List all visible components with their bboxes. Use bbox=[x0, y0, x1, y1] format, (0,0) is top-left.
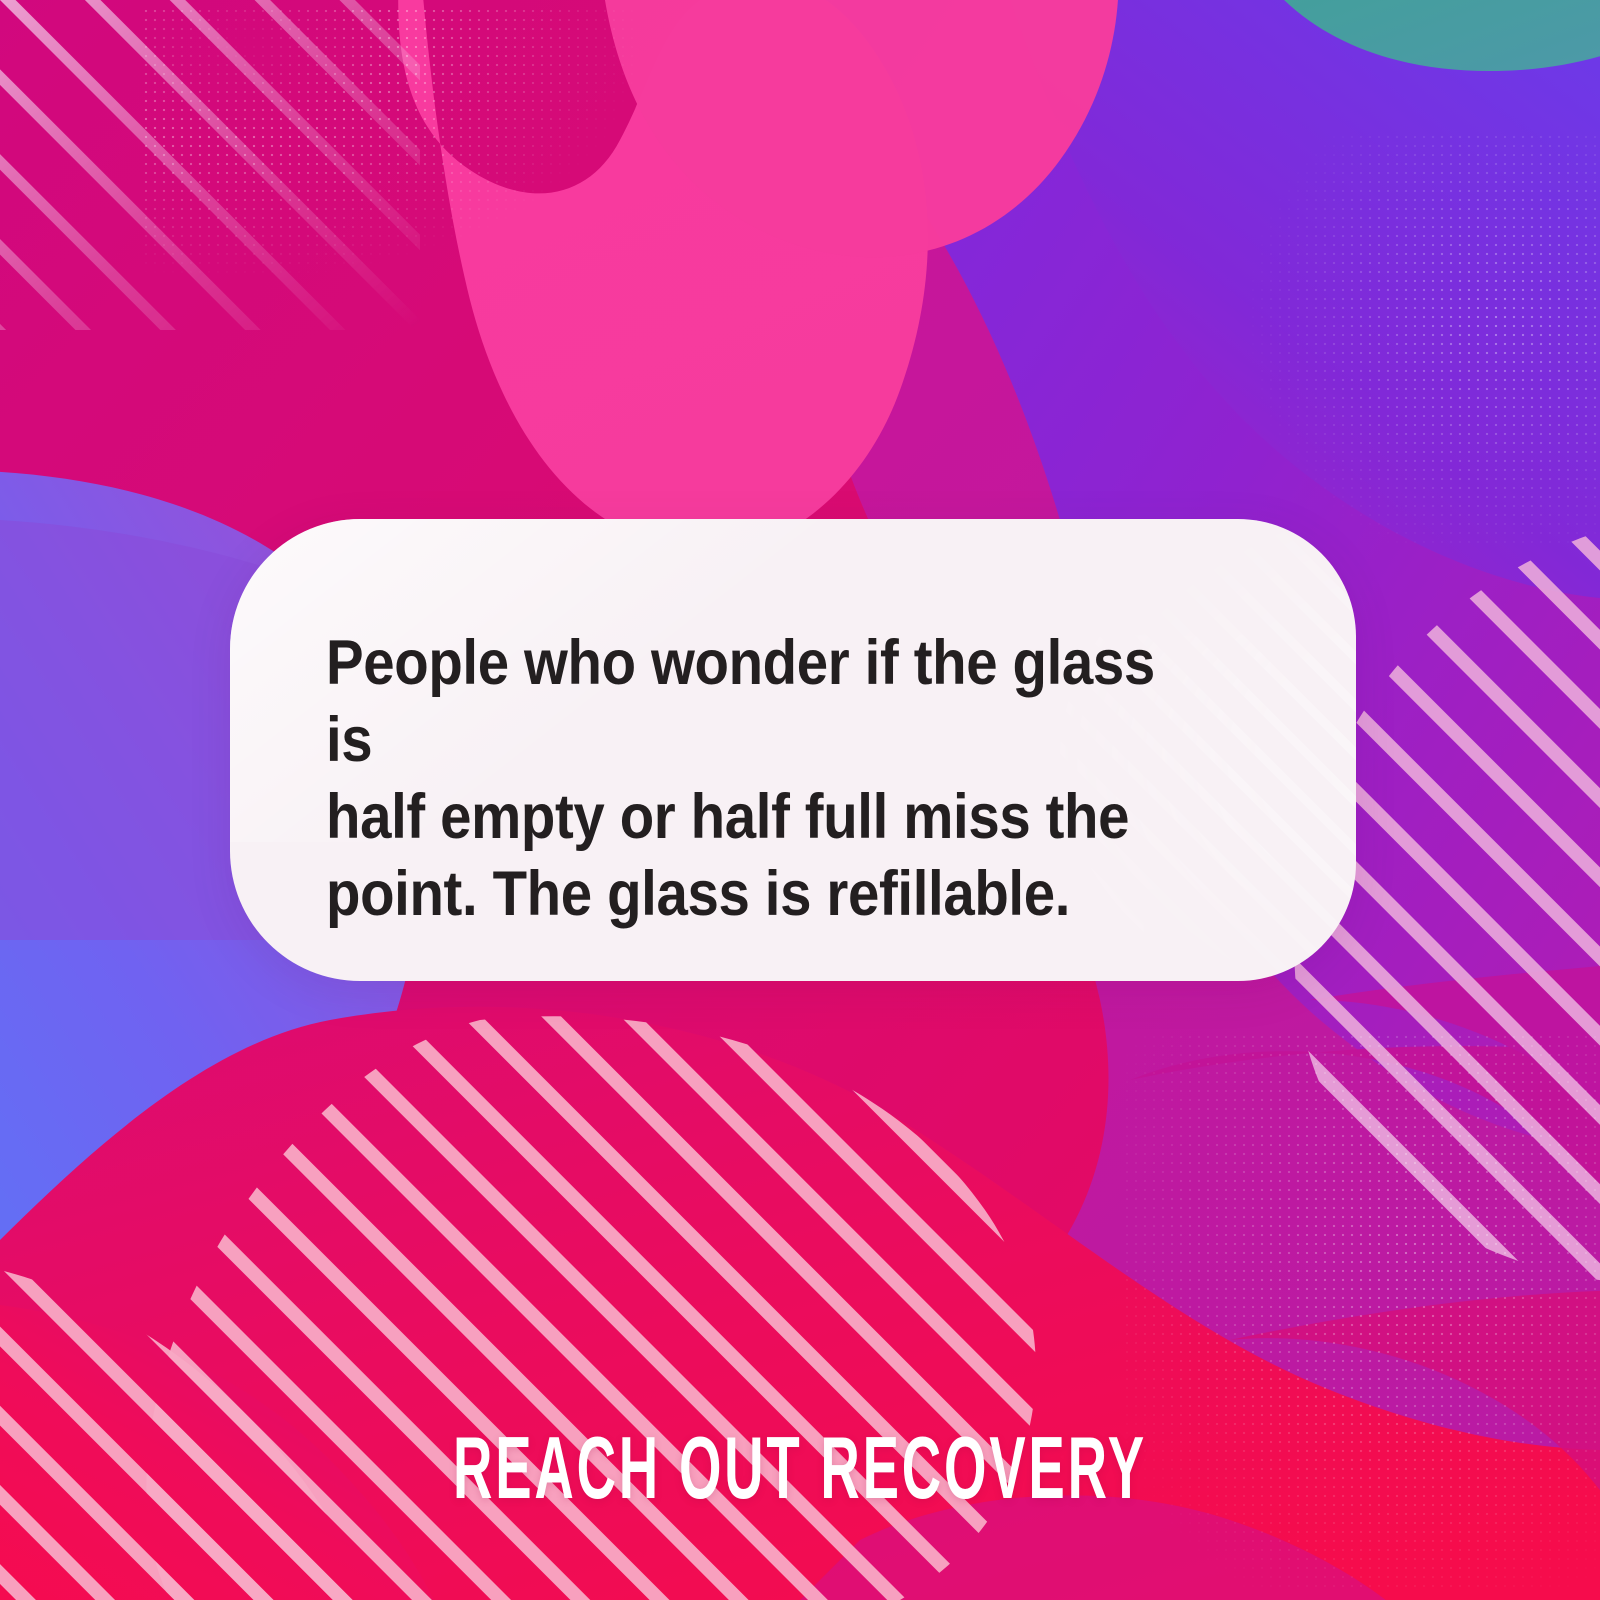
halftone-dots-top-right bbox=[1180, 130, 1600, 550]
brand-wordmark: REACH OUT RECOVERY bbox=[304, 1424, 1296, 1512]
halftone-dots-top-left bbox=[140, 10, 700, 340]
quote-text: People who wonder if the glass is half e… bbox=[326, 625, 1185, 933]
poster-canvas: People who wonder if the glass is half e… bbox=[0, 0, 1600, 1600]
quote-card: People who wonder if the glass is half e… bbox=[230, 519, 1356, 981]
